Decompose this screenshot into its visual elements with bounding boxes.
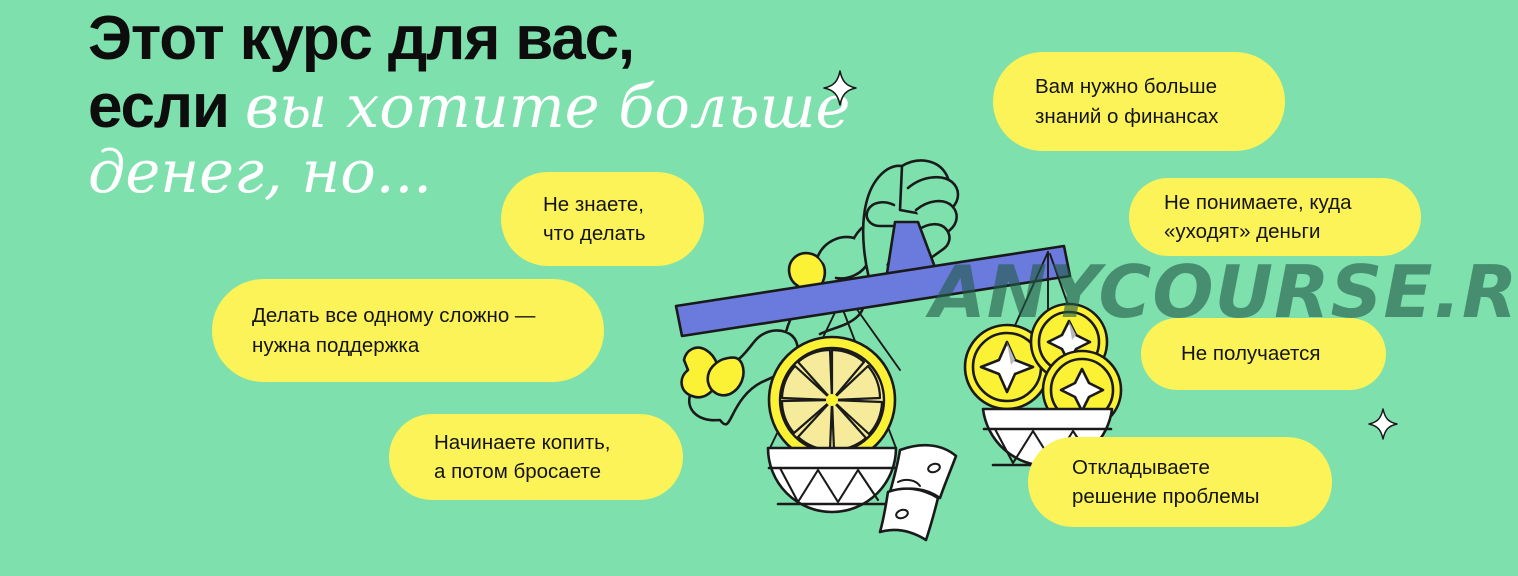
headline-line-3: денег, но...	[88, 142, 828, 201]
pill-not-working-out: Не получается	[1141, 318, 1386, 390]
promo-banner: Этот курс для вас, если вы хотите больше…	[0, 0, 1518, 576]
headline-line-1: Этот курс для вас,	[88, 8, 828, 70]
pill-dont-understand-spending: Не понимаете, куда «уходят» деньги	[1129, 178, 1421, 256]
headline-italic-2: вы хотите больше	[245, 72, 851, 141]
headline-line-2: если вы хотите больше	[88, 76, 828, 138]
pill-start-saving-then-quit-label: Начинаете копить, а потом бросаете	[434, 428, 611, 486]
headline-bold-2: если	[88, 72, 245, 141]
pill-postpone-decision: Откладываете решение проблемы	[1028, 437, 1332, 527]
sparkle-icon	[1368, 408, 1398, 445]
page-title: Этот курс для вас, если вы хотите больше…	[88, 8, 828, 201]
headline-italic-3: денег, но...	[88, 137, 432, 206]
pill-hard-alone: Делать все одному сложно — нужна поддерж…	[212, 279, 604, 382]
pill-postpone-decision-label: Откладываете решение проблемы	[1072, 453, 1259, 511]
sparkle-icon	[823, 70, 857, 111]
pill-need-more-knowledge-label: Вам нужно больше знаний о финансах	[1035, 72, 1218, 130]
headline-bold-1: Этот курс для вас,	[88, 4, 634, 73]
pill-need-more-knowledge: Вам нужно больше знаний о финансах	[993, 52, 1285, 151]
pill-start-saving-then-quit: Начинаете копить, а потом бросаете	[389, 414, 683, 500]
lemon-slice	[769, 337, 895, 463]
pill-not-working-out-label: Не получается	[1181, 339, 1320, 368]
pill-dont-understand-spending-label: Не понимаете, куда «уходят» деньги	[1164, 188, 1351, 246]
left-pan-bowl	[768, 448, 896, 512]
pill-hard-alone-label: Делать все одному сложно — нужна поддерж…	[252, 301, 535, 359]
